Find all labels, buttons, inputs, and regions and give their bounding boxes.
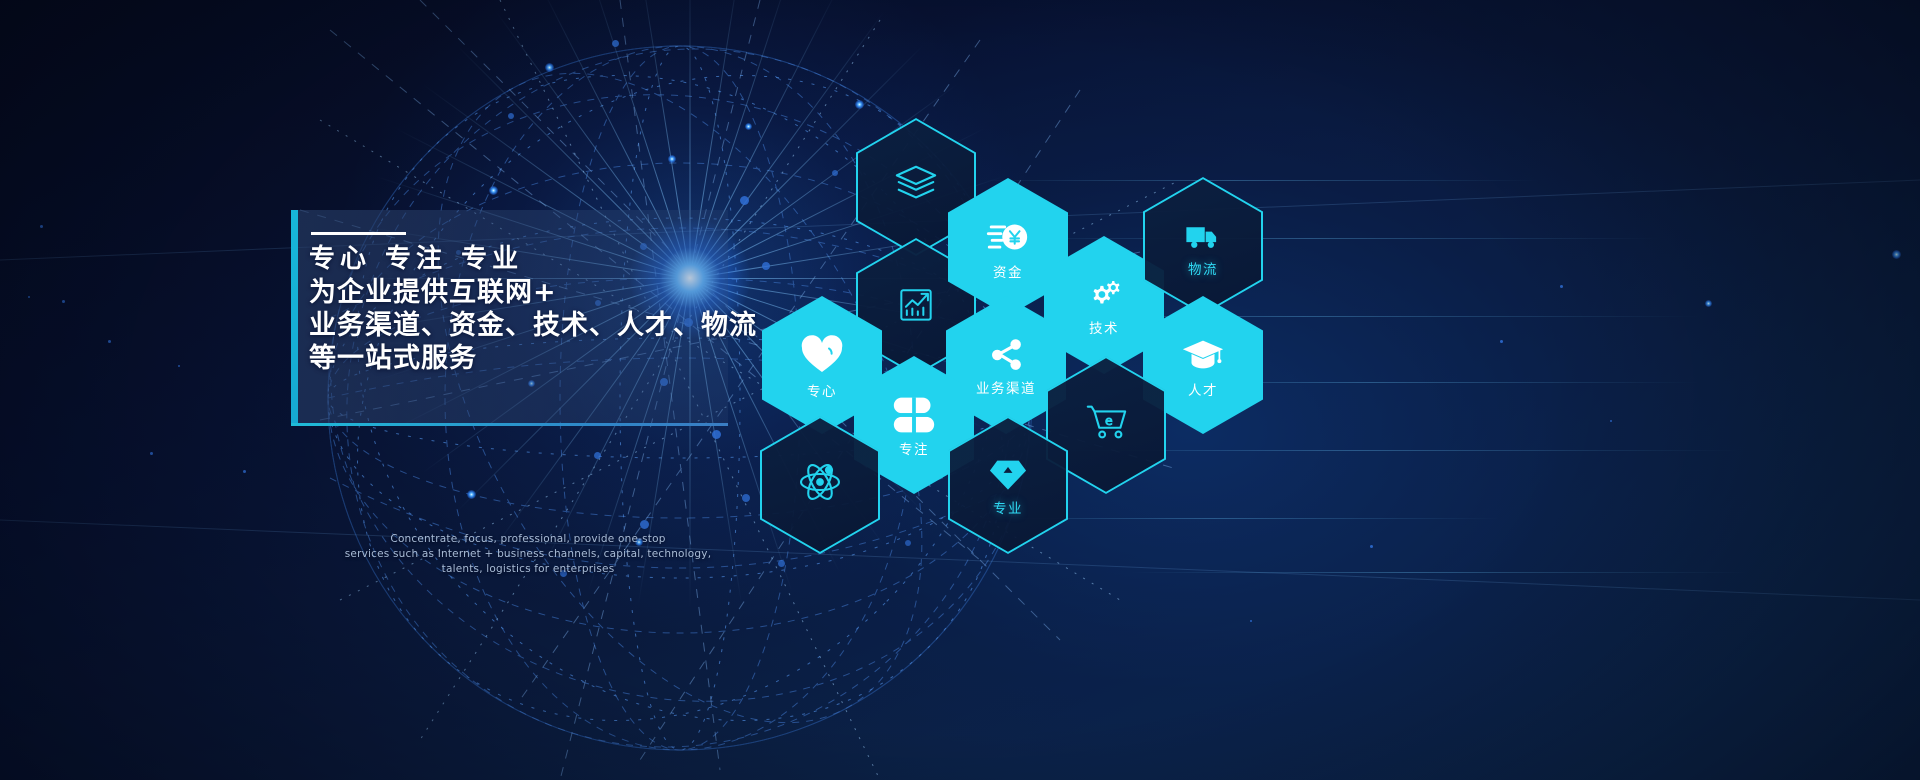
diamond-icon	[987, 454, 1029, 496]
ecommerce-cart-icon: e	[1083, 399, 1129, 445]
svg-text:e: e	[1105, 412, 1113, 427]
hexagon-cluster: 资金 技术	[0, 0, 1920, 780]
truck-icon	[1182, 215, 1224, 257]
hex-rencai-label: 人才	[1188, 385, 1218, 399]
layers-icon	[893, 161, 939, 207]
hex-zhuanzhu-label: 专注	[899, 444, 929, 458]
banner-stage: 专心 专注 专业 为企业提供互联网+ 业务渠道、资金、技术、人才、物流 等一站式…	[0, 0, 1920, 780]
growth-chart-icon	[894, 282, 938, 326]
yen-coin-icon	[985, 214, 1031, 260]
four-petal-icon	[892, 393, 936, 437]
gears-icon	[1083, 274, 1125, 316]
hex-zijin-label: 资金	[993, 267, 1023, 281]
share-nodes-icon	[985, 334, 1027, 376]
hex-zhuanxin-label: 专心	[807, 386, 837, 400]
hex-wuliu-label: 物流	[1188, 264, 1218, 278]
atom-icon	[796, 458, 844, 506]
heart-icon	[798, 331, 846, 379]
hex-jishu-label: 技术	[1089, 323, 1119, 337]
graduation-cap-icon	[1180, 332, 1226, 378]
hex-yewu-label: 业务渠道	[976, 383, 1036, 397]
hex-zhuanye-label: 专业	[993, 503, 1023, 517]
